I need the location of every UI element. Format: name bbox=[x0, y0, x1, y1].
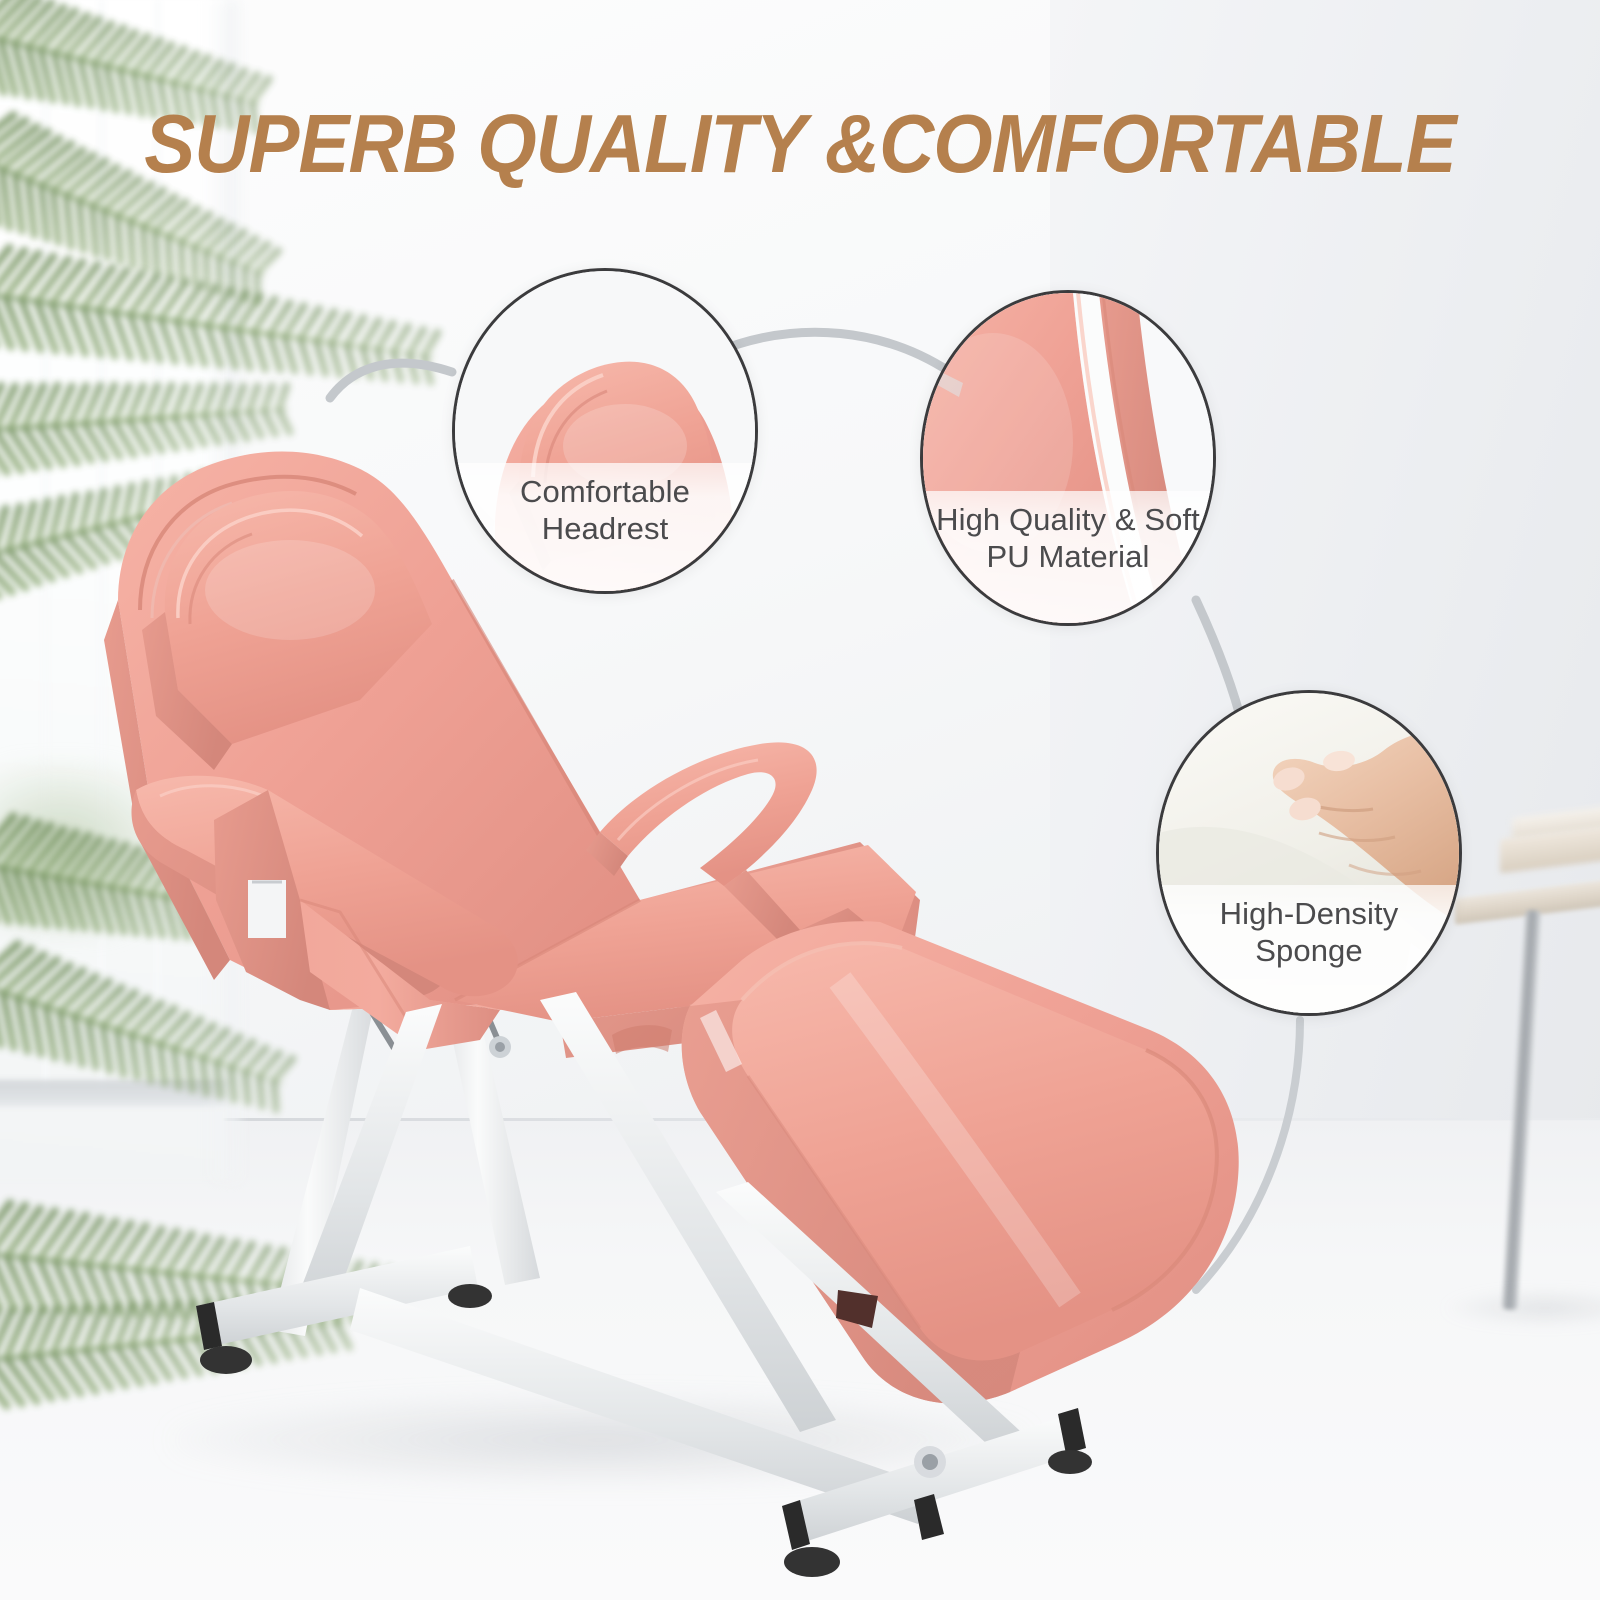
callout-pu-material[interactable]: High Quality & Soft PU Material bbox=[920, 290, 1216, 626]
product-marketing-image: Comfortable Headrest High Quality & Soft… bbox=[0, 0, 1600, 1600]
callout-label-line2: Headrest bbox=[542, 510, 669, 547]
callout-label-headrest: Comfortable Headrest bbox=[455, 463, 755, 591]
callout-high-density-sponge[interactable]: High-Density Sponge bbox=[1156, 690, 1462, 1016]
callout-label-line1: High-Density bbox=[1220, 895, 1399, 932]
callout-label-line2: PU Material bbox=[986, 538, 1149, 575]
callout-label-line1: High Quality & Soft bbox=[936, 501, 1200, 538]
callout-label-pu: High Quality & Soft PU Material bbox=[923, 491, 1213, 623]
page-title: SUPERB QUALITY &COMFORTABLE bbox=[64, 96, 1536, 192]
callout-comfortable-headrest[interactable]: Comfortable Headrest bbox=[452, 268, 758, 594]
callout-label-line2: Sponge bbox=[1255, 932, 1362, 969]
callout-label-line1: Comfortable bbox=[520, 473, 690, 510]
callout-label-sponge: High-Density Sponge bbox=[1159, 885, 1459, 1013]
